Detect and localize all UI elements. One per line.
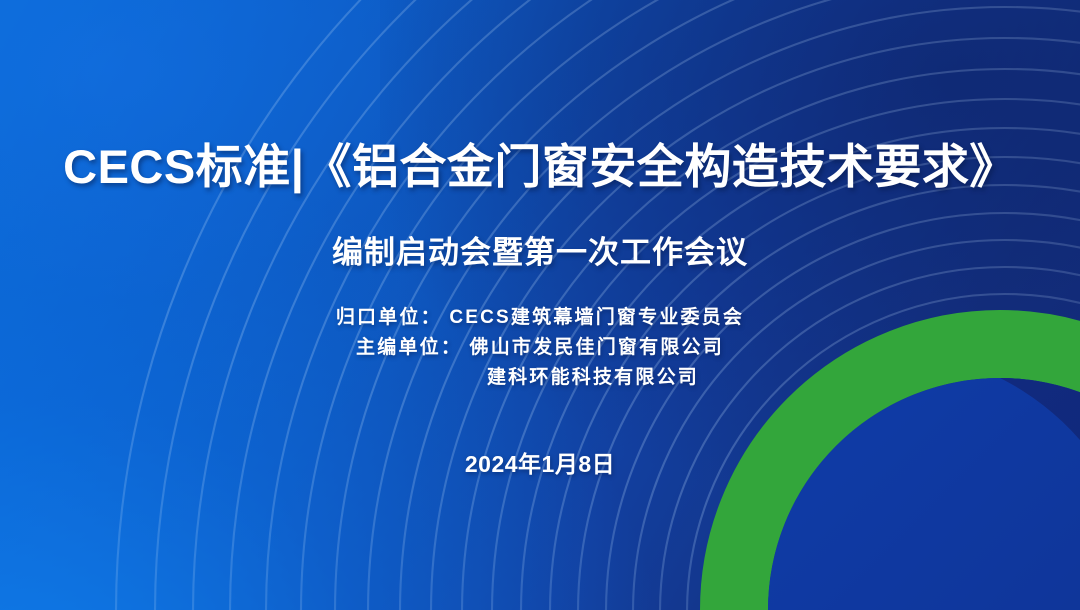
organization-list: 归口单位： CECS建筑幕墙门窗专业委员会 主编单位： 佛山市发民佳门窗有限公司…: [0, 303, 1080, 393]
event-date: 2024年1月8日: [0, 445, 1080, 479]
slide-content: CECS标准|《铝合金门窗安全构造技术要求》 编制启动会暨第一次工作会议 归口单…: [0, 0, 1080, 610]
organization-line-co-editor: 建科环能科技有限公司: [0, 363, 1080, 393]
page-subtitle: 编制启动会暨第一次工作会议: [0, 227, 1080, 272]
page-title: CECS标准|《铝合金门窗安全构造技术要求》: [0, 141, 1080, 193]
organization-line-lead-editor: 主编单位： 佛山市发民佳门窗有限公司: [0, 333, 1080, 363]
organization-line-supervising: 归口单位： CECS建筑幕墙门窗专业委员会: [0, 303, 1080, 333]
presentation-title-slide: CECS标准|《铝合金门窗安全构造技术要求》 编制启动会暨第一次工作会议 归口单…: [0, 0, 1080, 610]
